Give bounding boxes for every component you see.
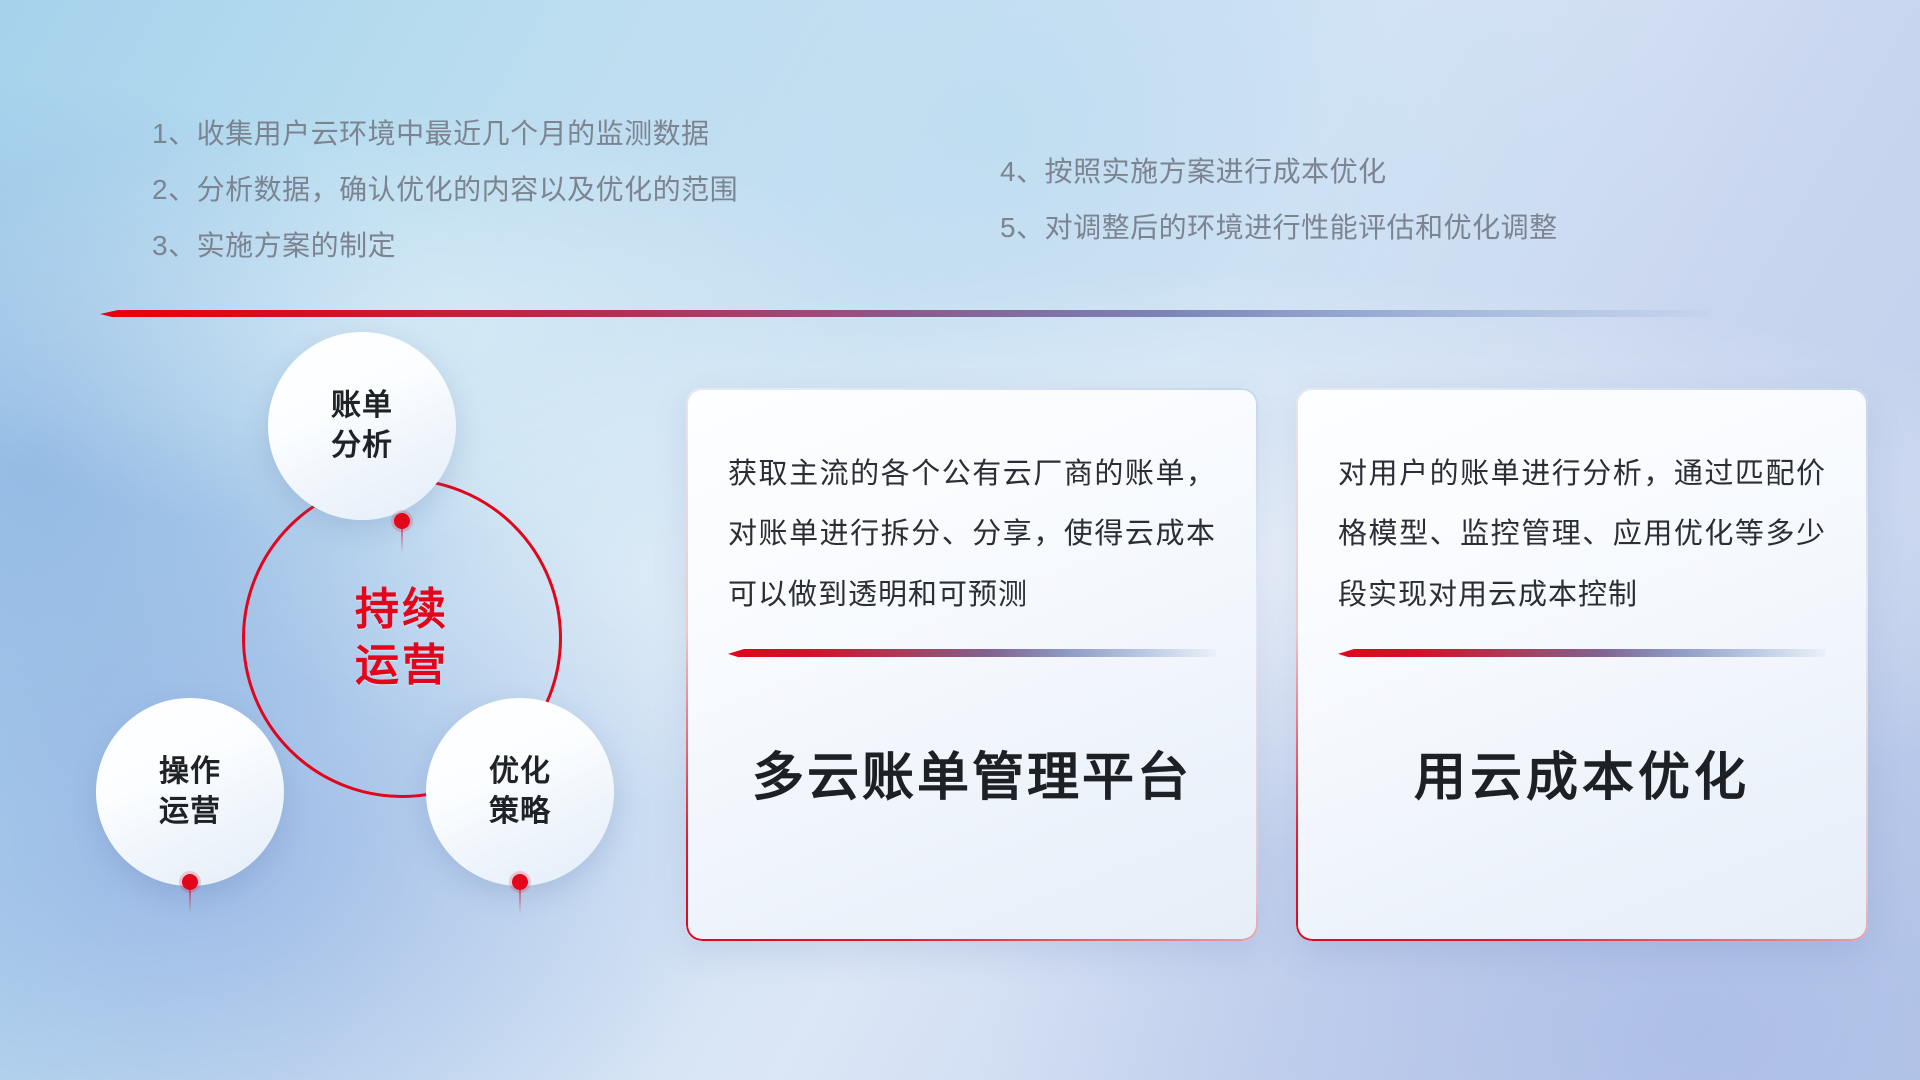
feature-card-2-body: 对用户的账单进行分析，通过匹配价格模型、监控管理、应用优化等多少段实现对用云成本… [1338,444,1826,625]
feature-card-multicloud-billing[interactable]: 获取主流的各个公有云厂商的账单，对账单进行拆分、分享，使得云成本可以做到透明和可… [686,388,1258,941]
feature-card-1-body: 获取主流的各个公有云厂商的账单，对账单进行拆分、分享，使得云成本可以做到透明和可… [728,444,1216,625]
diagram-node-left-line-1: 操作 [159,752,221,792]
diagram-node-left-line-2: 运营 [159,792,221,832]
feature-card-2-title: 用云成本优化 [1338,735,1826,810]
process-steps-right: 4、按照实施方案进行成本优化 5、对调整后的环境进行性能评估和优化调整 [1000,158,1820,270]
diagram-node-dot-top [394,513,410,529]
diagram-node-tail-right [519,890,521,914]
diagram-node-operations[interactable]: 操作 运营 [96,698,284,886]
section-divider [100,310,1710,317]
continuous-operation-diagram: 持续 运营 账单 分析 操作 运营 优化 策略 [96,350,656,950]
process-step-2: 2、分析数据，确认优化的内容以及优化的范围 [152,176,912,204]
process-steps-left: 1、收集用户云环境中最近几个月的监测数据 2、分析数据，确认优化的内容以及优化的… [152,120,912,288]
diagram-node-right-line-1: 优化 [489,752,551,792]
feature-card-2-rule [1338,649,1826,657]
diagram-node-optimization-strategy[interactable]: 优化 策略 [426,698,614,886]
process-step-3: 3、实施方案的制定 [152,232,912,260]
diagram-center-line-2: 运营 [355,638,449,694]
process-step-5: 5、对调整后的环境进行性能评估和优化调整 [1000,214,1820,242]
diagram-node-top-line-2: 分析 [331,426,393,466]
diagram-center-line-1: 持续 [355,582,449,638]
diagram-node-tail-top [401,529,403,553]
diagram-node-top-line-1: 账单 [331,386,393,426]
diagram-node-bill-analysis[interactable]: 账单 分析 [268,332,456,520]
feature-card-1-title: 多云账单管理平台 [728,735,1216,810]
feature-card-cloud-cost-optimization[interactable]: 对用户的账单进行分析，通过匹配价格模型、监控管理、应用优化等多少段实现对用云成本… [1296,388,1868,941]
feature-card-1-rule [728,649,1216,657]
diagram-node-right-line-2: 策略 [489,792,551,832]
diagram-node-dot-left [182,874,198,890]
diagram-node-dot-right [512,874,528,890]
process-step-4: 4、按照实施方案进行成本优化 [1000,158,1820,186]
process-step-1: 1、收集用户云环境中最近几个月的监测数据 [152,120,912,148]
slide-canvas: 1、收集用户云环境中最近几个月的监测数据 2、分析数据，确认优化的内容以及优化的… [0,0,1920,1080]
diagram-node-tail-left [189,890,191,914]
